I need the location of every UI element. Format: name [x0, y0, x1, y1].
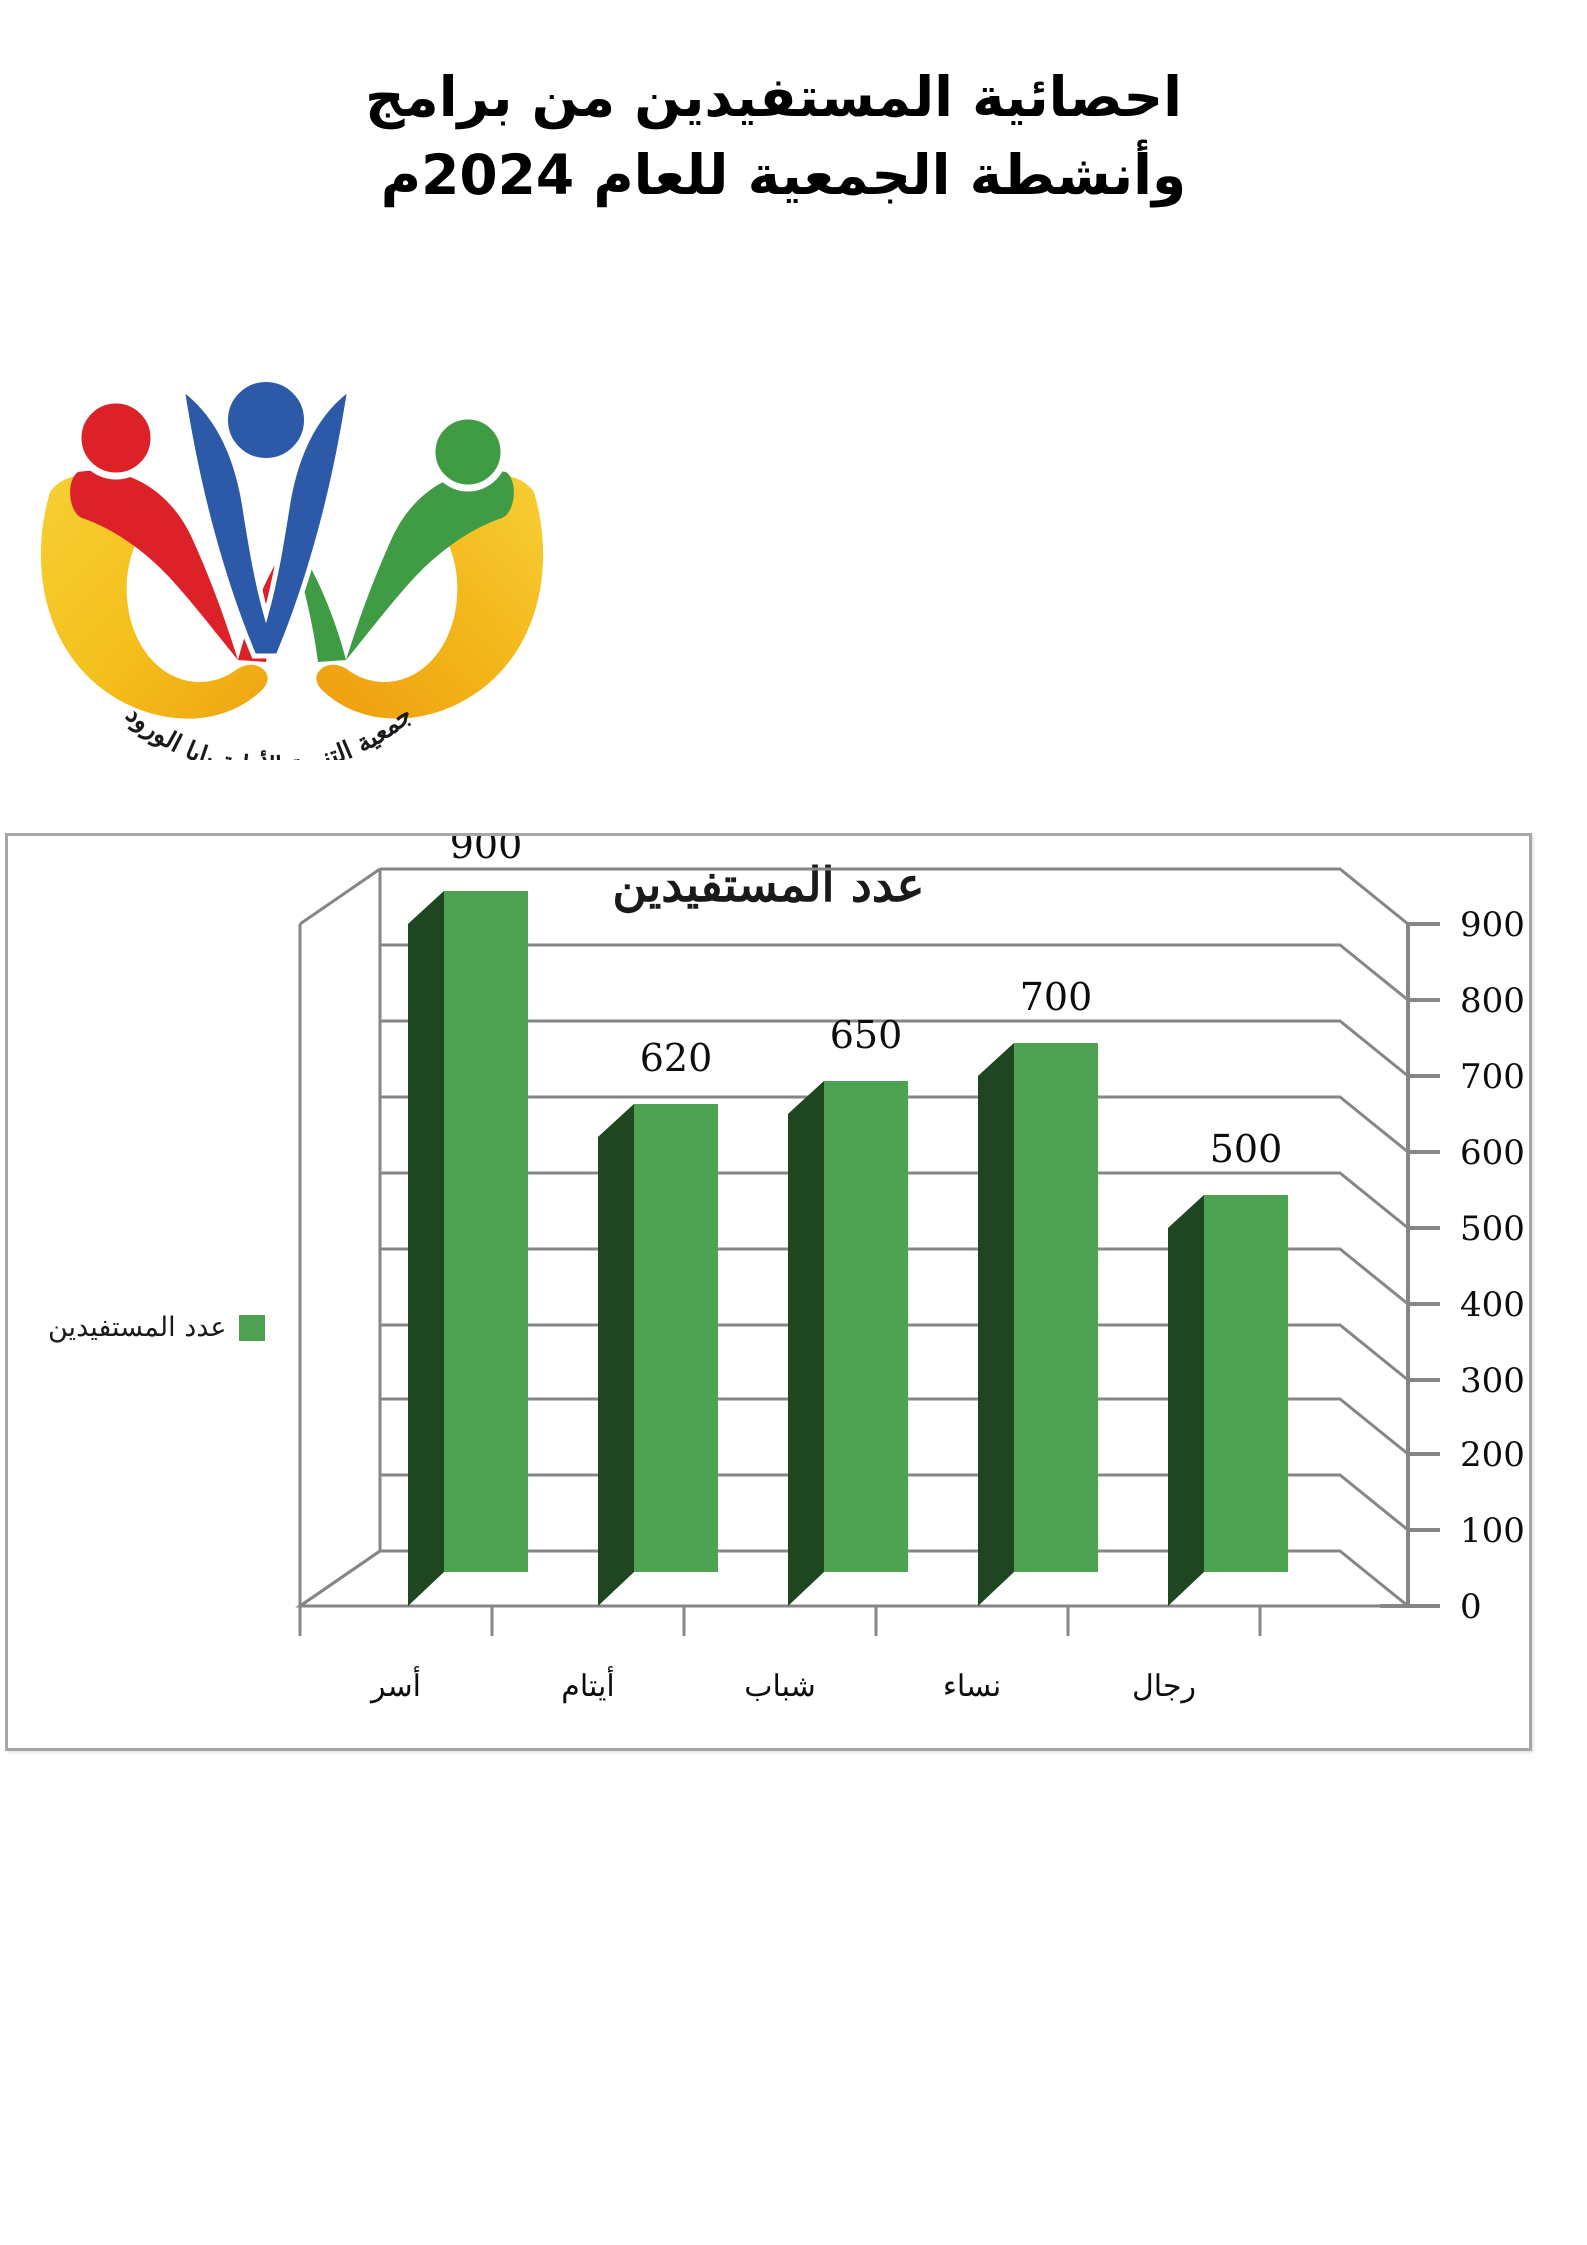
x-category-label-0: أسر — [369, 1666, 421, 1704]
y-tick-label-700: 700 — [1460, 1057, 1525, 1097]
chart-x-axis — [300, 1606, 1260, 1636]
y-tick-label-400: 400 — [1460, 1285, 1525, 1325]
bar-side-3 — [978, 1043, 1014, 1606]
x-category-label-1: أيتام — [561, 1666, 614, 1704]
bar-side-4 — [1168, 1195, 1204, 1606]
bar-front-2 — [824, 1081, 908, 1572]
bar-value-label-2: 650 — [830, 1013, 903, 1057]
bar-group-3[interactable] — [978, 1043, 1098, 1606]
y-tick-label-900: 900 — [1460, 905, 1525, 945]
page-title-line-2: وأنشطة الجمعية للعام 2024م — [0, 136, 1587, 214]
bar-group-4[interactable] — [1168, 1195, 1288, 1606]
bar-side-0 — [408, 891, 444, 1606]
chart-container: عدد المستفيدين عدد المستفيدين — [5, 833, 1532, 1751]
y-tick-label-500: 500 — [1460, 1209, 1525, 1249]
bar-side-1 — [598, 1104, 634, 1606]
y-tick-label-200: 200 — [1460, 1435, 1525, 1475]
bar-front-3 — [1014, 1043, 1098, 1572]
bar-value-label-4: 500 — [1210, 1127, 1283, 1171]
chart-y-axis — [1380, 924, 1440, 1606]
bar-group-1[interactable] — [598, 1104, 718, 1606]
bar-value-label-0: 900 — [450, 836, 523, 867]
bar-front-1 — [634, 1104, 718, 1572]
bar-value-label-3: 700 — [1020, 975, 1093, 1019]
y-tick-label-800: 800 — [1460, 981, 1525, 1021]
y-tick-label-0: 0 — [1460, 1587, 1482, 1627]
bar-group-0[interactable] — [408, 891, 528, 1606]
x-category-label-2: شباب — [744, 1669, 816, 1704]
y-tick-label-600: 600 — [1460, 1133, 1525, 1173]
bar-value-label-1: 620 — [640, 1036, 713, 1080]
page-title: احصائية المستفيدين من برامج وأنشطة الجمع… — [0, 58, 1587, 214]
y-tick-label-100: 100 — [1460, 1511, 1525, 1551]
chart-plot-area: 900 620 650 700 500 900 800 700 600 500 … — [8, 836, 1529, 1748]
bar-side-2 — [788, 1081, 824, 1606]
association-logo-graphic: جمعية التنمية الأهلية بابا الورود — [22, 360, 562, 760]
page-title-line-1: احصائية المستفيدين من برامج — [0, 58, 1587, 136]
x-category-label-3: نساء — [943, 1669, 1001, 1704]
association-logo: جمعية التنمية الأهلية بابا الورود — [22, 360, 562, 760]
y-tick-label-300: 300 — [1460, 1361, 1525, 1401]
bar-front-0 — [444, 891, 528, 1572]
bar-front-4 — [1204, 1195, 1288, 1572]
bar-group-2[interactable] — [788, 1081, 908, 1606]
x-category-label-4: رجال — [1132, 1669, 1196, 1704]
